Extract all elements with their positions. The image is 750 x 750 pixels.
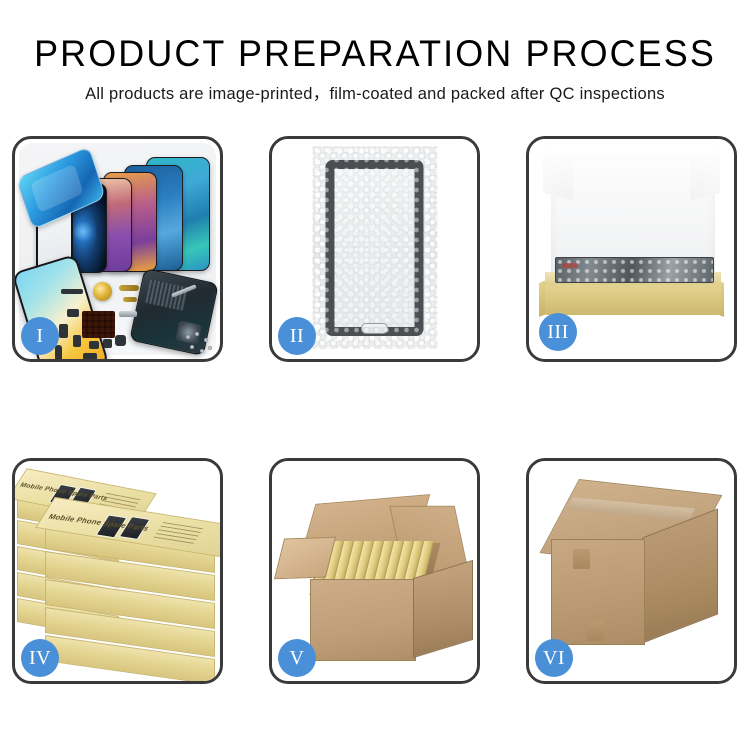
carton-hand-hole-bottom <box>587 621 604 641</box>
part-button-cable <box>55 345 62 359</box>
part-flex-cable-1 <box>119 285 139 291</box>
page-title: PRODUCT PREPARATION PROCESS <box>11 34 739 74</box>
carton-left-flap-graphic <box>274 537 336 580</box>
step-badge-5: V <box>278 639 316 677</box>
part-speaker <box>83 353 97 359</box>
part-flex-cable-2 <box>123 297 137 302</box>
page-header: PRODUCT PREPARATION PROCESS All products… <box>0 0 750 105</box>
part-connector-3 <box>73 335 81 347</box>
coil-part-graphic <box>93 282 112 301</box>
process-steps-grid: I II III <box>12 136 738 684</box>
box-lid-right-graphic <box>690 149 720 202</box>
step-panel-6: VI <box>526 458 737 684</box>
chip-array-graphic <box>82 311 115 338</box>
screws-graphic <box>184 331 214 357</box>
step-badge-1: I <box>21 317 59 355</box>
step-badge-2: II <box>278 317 316 355</box>
step-badge-6: VI <box>535 639 573 677</box>
step-panel-1: I <box>12 136 223 362</box>
step-panel-5: V <box>269 458 480 684</box>
wrapped-screen-graphic <box>326 160 424 336</box>
page-subtitle: All products are image-printed，film-coat… <box>0 83 750 105</box>
bubble-wrap-graphic <box>312 146 437 349</box>
carton-hand-hole-top <box>573 549 590 569</box>
part-chip-1 <box>89 341 99 349</box>
step-panel-4: Mobile Phone Spare Parts Mobile Phone Sp… <box>12 458 223 684</box>
part-metal-bracket-1 <box>119 311 137 317</box>
part-chip-2 <box>103 339 112 348</box>
step-badge-3: III <box>539 313 577 351</box>
step-panel-3: III <box>526 136 737 362</box>
part-connector-2 <box>59 324 68 338</box>
part-strip-1 <box>61 289 83 294</box>
box-lid-left-graphic <box>543 149 573 202</box>
packed-screen-graphic <box>555 257 714 283</box>
carton-front-panel-graphic <box>310 579 416 661</box>
step-badge-4: IV <box>21 639 59 677</box>
step-panel-2: II <box>269 136 480 362</box>
part-connector-1 <box>67 309 79 317</box>
part-camera-module <box>115 335 126 346</box>
